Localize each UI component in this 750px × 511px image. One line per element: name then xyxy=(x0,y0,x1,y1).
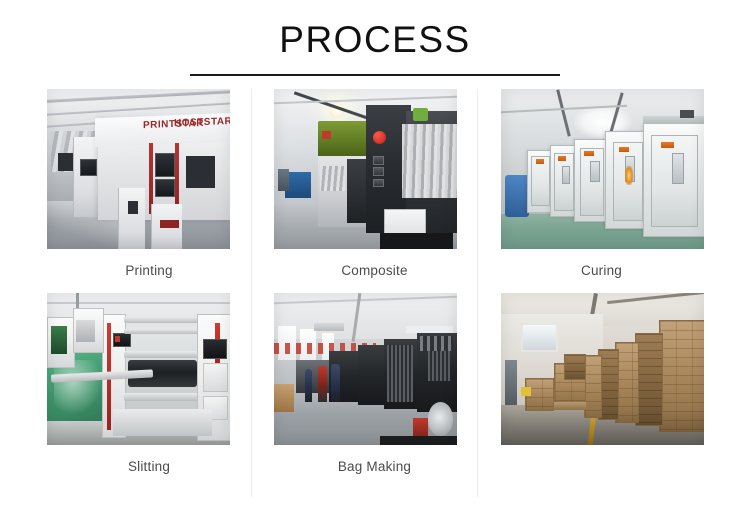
page-title: PROCESS xyxy=(0,18,750,62)
slitting-photo xyxy=(47,293,230,445)
caption-bag-making: Bag Making xyxy=(252,459,477,474)
printing-brand-text-2: HOSTSTAR xyxy=(174,116,230,129)
process-cell-bag-making[interactable]: Bag Making xyxy=(252,293,478,497)
process-cell-warehouse[interactable] xyxy=(478,293,703,497)
printing-photo: PRINTSTAR HOSTSTAR xyxy=(47,89,230,249)
process-cell-curing[interactable]: Curing xyxy=(478,89,703,293)
caption-curing: Curing xyxy=(478,263,703,278)
process-grid: PRINTSTAR HOSTSTAR Printing xyxy=(47,89,703,497)
title-divider xyxy=(190,74,560,76)
curing-photo xyxy=(501,89,704,249)
caption-composite: Composite xyxy=(252,263,477,278)
composite-photo xyxy=(274,89,457,249)
process-cell-slitting[interactable]: Slitting xyxy=(47,293,252,497)
process-cell-printing[interactable]: PRINTSTAR HOSTSTAR Printing xyxy=(47,89,252,293)
warehouse-photo xyxy=(501,293,704,445)
process-cell-composite[interactable]: Composite xyxy=(252,89,478,293)
bag-making-photo xyxy=(274,293,457,445)
caption-printing: Printing xyxy=(47,263,251,278)
page-header: PROCESS xyxy=(0,0,750,76)
caption-slitting: Slitting xyxy=(47,459,251,474)
